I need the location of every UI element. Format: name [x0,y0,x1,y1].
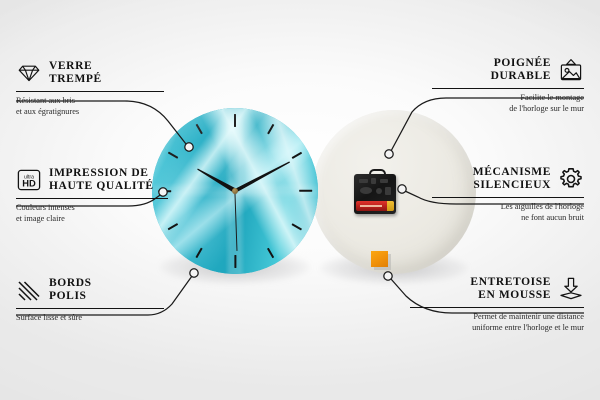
feature-entretoise-en-mousse: ENTRETOISE EN MOUSSE Permet de maintenir… [410,274,584,333]
feature-title: VERRE TREMPÉ [49,60,102,86]
feature-header: POIGNÉE DURABLE [432,55,584,85]
feature-title: ENTRETOISE EN MOUSSE [470,276,551,302]
picture-hanger-icon [558,57,584,83]
divider [16,198,168,199]
ultra-hd-main-text: HD [22,178,36,189]
feature-impression-haute-qualite: ultra HD IMPRESSION DE HAUTE QUALITÉ Cou… [16,165,168,224]
feature-description: Les aiguilles de l'horloge ne font aucun… [432,202,584,223]
feature-title: MÉCANISME SILENCIEUX [473,166,551,192]
feature-description: Permet de maintenir une distance uniform… [410,312,584,333]
divider [16,308,164,309]
divider [410,307,584,308]
feature-header: VERRE TREMPÉ [16,58,164,88]
feature-description: Facilite le montage de l'horloge sur le … [432,93,584,114]
feature-bords-polis: BORDS POLIS Surface lisse et sûre [16,275,164,324]
feature-description: Résistant aux bris et aux égratignures [16,96,164,117]
divider [16,91,164,92]
quartz-movement [354,174,396,214]
feature-title: POIGNÉE DURABLE [491,57,551,83]
ultra-hd-badge-icon: ultra HD [16,167,42,193]
feature-verre-trempe: VERRE TREMPÉ Résistant aux bris et aux é… [16,58,164,117]
feature-header: ultra HD IMPRESSION DE HAUTE QUALITÉ [16,165,168,195]
polished-edges-icon [16,277,42,303]
hands-center-cap [232,188,238,194]
feature-description: Couleurs intenses et image claire [16,203,168,224]
clock-face [152,108,318,274]
feature-title: BORDS POLIS [49,277,92,303]
diamond-icon [16,60,42,86]
feature-description: Surface lisse et sûre [16,313,164,324]
feature-title: IMPRESSION DE HAUTE QUALITÉ [49,167,154,193]
divider [432,88,584,89]
feature-header: ENTRETOISE EN MOUSSE [410,274,584,304]
battery [356,201,394,211]
foam-spacer-icon [558,276,584,302]
foam-spacer [371,251,388,267]
feature-poignee-durable: POIGNÉE DURABLE Facilite le montage de l… [432,55,584,114]
feature-header: MÉCANISME SILENCIEUX [432,164,584,194]
feature-mecanisme-silencieux: MÉCANISME SILENCIEUX Les aiguilles de l'… [432,164,584,223]
feature-header: BORDS POLIS [16,275,164,305]
movement-body [354,174,396,214]
gear-icon [558,166,584,192]
divider [432,197,584,198]
infographic-canvas: clock-back-panel [0,0,600,400]
